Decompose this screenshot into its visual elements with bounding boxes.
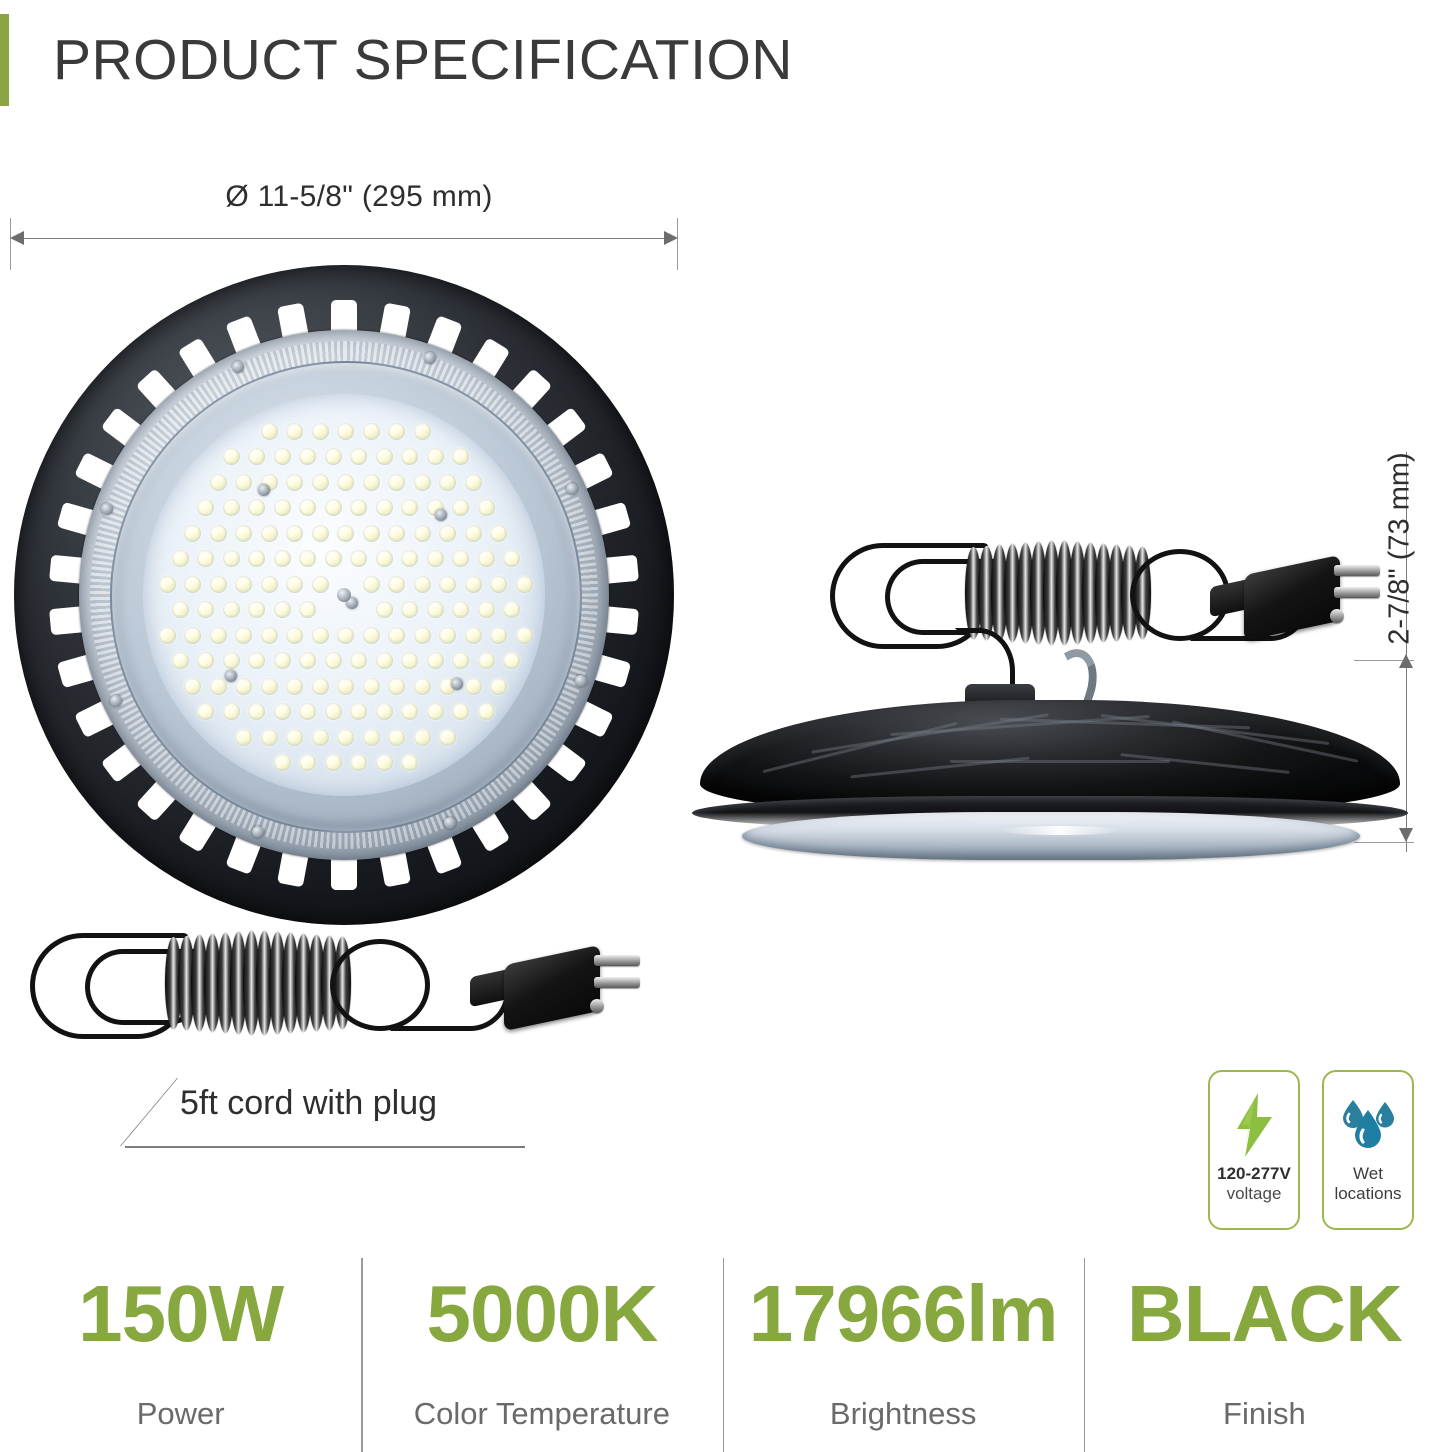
spec-label: Brightness [830,1396,976,1432]
led-chip [414,525,431,542]
spec-summary-row: 150WPower5000KColor Temperature17966lmBr… [0,1258,1445,1452]
led-chip [490,678,507,695]
led-chip [274,703,291,720]
led-chip [223,601,240,618]
led-chip [452,601,469,618]
led-chip [350,550,367,567]
led-chip [465,678,482,695]
led-chip [376,448,393,465]
led-chip [414,423,431,440]
led-chip [439,525,456,542]
led-chip [286,678,303,695]
led-chip [299,754,316,771]
led-chip [210,576,227,593]
led-chip [248,499,265,516]
led-chip [376,499,393,516]
spec-cell-brightness: 17966lmBrightness [723,1258,1084,1452]
spec-value: 5000K [427,1274,658,1354]
spec-value: BLACK [1127,1274,1402,1354]
led-chip [197,652,214,669]
led-chip [248,601,265,618]
led-chip [478,652,495,669]
led-chip [325,499,342,516]
led-chip [210,525,227,542]
center-screw-icon [337,588,351,602]
led-chip [465,576,482,593]
led-chip [388,678,405,695]
led-chip [248,652,265,669]
spec-cell-color-temperature: 5000KColor Temperature [361,1258,722,1452]
led-chip [337,474,354,491]
led-chip [414,474,431,491]
plug-prong [594,955,640,966]
led-chip [261,525,278,542]
led-chip [452,550,469,567]
diameter-dimension-label: Ø 11-5/8" (295 mm) [10,180,678,214]
lens-glint [1000,826,1120,835]
led-chip [325,652,342,669]
led-chip [427,652,444,669]
housing-fin [850,757,1029,779]
led-chip [172,652,189,669]
led-chip [261,627,278,644]
led-chip [235,729,252,746]
badge-voltage-value: 120-277V [1217,1164,1291,1184]
led-chip [235,474,252,491]
badge-wet-locations: Wet locations [1322,1070,1414,1230]
led-chip [286,627,303,644]
led-chip [197,703,214,720]
led-chip [414,576,431,593]
led-chip [414,678,431,695]
plug-prong [1330,609,1344,623]
product-side-view [700,700,1400,850]
led-chip [490,576,507,593]
led-chip [414,627,431,644]
led-chip [516,576,533,593]
spec-value: 17966lm [749,1274,1058,1354]
led-chip [325,448,342,465]
product-specification-page: PRODUCT SPECIFICATION Ø 11-5/8" (295 mm)… [0,0,1445,1452]
led-chip [286,423,303,440]
led-chip [248,550,265,567]
led-chip [299,652,316,669]
led-chip [465,627,482,644]
led-chip [465,525,482,542]
arrow-left-icon [10,231,24,245]
water-droplets-icon [1337,1086,1399,1164]
led-chip [210,627,227,644]
led-chip [210,678,227,695]
led-chip [388,729,405,746]
led-chip [184,678,201,695]
led-chip [286,525,303,542]
led-chip [159,627,176,644]
certification-badges: 120-277V voltage Wet locations [1208,1070,1414,1230]
led-chip [401,703,418,720]
led-chip [363,678,380,695]
led-chip [414,729,431,746]
led-chip [478,703,495,720]
led-chip [312,729,329,746]
led-chip [452,652,469,669]
led-chip [490,627,507,644]
led-chip [401,601,418,618]
led-chip [516,627,533,644]
led-chip [350,703,367,720]
housing-fin [1120,753,1289,774]
page-title: PRODUCT SPECIFICATION [53,32,793,89]
led-chip [363,576,380,593]
led-chip [388,576,405,593]
housing-fin [1172,720,1358,762]
led-chip [299,499,316,516]
panel-screw-icon [435,509,447,521]
plug-prong [590,999,604,1013]
spec-cell-power: 150WPower [0,1258,361,1452]
led-chip [503,601,520,618]
led-chip [490,525,507,542]
led-chip [261,729,278,746]
led-chip [172,601,189,618]
led-chip [363,627,380,644]
led-chip [401,499,418,516]
led-chip [376,754,393,771]
led-chip [274,754,291,771]
led-chip [223,550,240,567]
led-chip [465,474,482,491]
led-chip [325,703,342,720]
led-chip [439,729,456,746]
led-chip [401,448,418,465]
plug-prong [1334,565,1380,576]
led-chip [235,678,252,695]
led-chip [159,576,176,593]
led-chip [363,525,380,542]
led-chip [363,423,380,440]
callout-underline [125,1146,525,1148]
led-chip [197,601,214,618]
led-chip [337,525,354,542]
plug-prong [1334,587,1380,598]
led-chip [503,550,520,567]
led-chip [261,423,278,440]
led-chip [325,754,342,771]
led-chip [274,601,291,618]
led-chip [376,550,393,567]
led-chip [197,550,214,567]
spec-label: Color Temperature [414,1396,670,1432]
led-chip [312,627,329,644]
led-chip [312,525,329,542]
led-chip [274,499,291,516]
led-chip [363,729,380,746]
led-chip [223,703,240,720]
spec-label: Power [137,1396,225,1432]
ring-screw-icon [232,361,244,373]
led-chip [312,678,329,695]
led-chip [388,474,405,491]
led-chip [299,448,316,465]
led-chip [439,474,456,491]
led-chip [299,601,316,618]
spec-cell-finish: BLACKFinish [1084,1258,1445,1452]
led-chip [312,576,329,593]
led-chip [274,448,291,465]
arrow-right-icon [664,231,678,245]
cord-coil [965,541,1155,645]
ring-screw-icon [252,826,264,838]
led-chip [223,652,240,669]
side-view-power-cord [830,525,1390,675]
led-chip [299,550,316,567]
led-chip [197,499,214,516]
badge-wet-value: Wet [1353,1164,1383,1184]
diameter-dimension: Ø 11-5/8" (295 mm) [10,180,678,250]
lightning-bolt-icon [1231,1086,1277,1164]
badge-wet-label: locations [1334,1184,1401,1204]
led-chip [184,627,201,644]
led-chip [388,627,405,644]
led-chip [325,550,342,567]
led-chip [478,550,495,567]
spec-value: 150W [78,1274,283,1354]
led-chip [376,601,393,618]
led-chip [235,627,252,644]
led-chip [286,576,303,593]
led-chip [261,576,278,593]
callout-label: 5ft cord with plug [180,1084,437,1123]
led-chip [184,525,201,542]
led-chip [401,754,418,771]
led-chip [337,729,354,746]
front-view-power-cord [30,915,650,1085]
panel-screw-icon [258,484,270,496]
led-chip [401,652,418,669]
product-front-view [14,265,674,925]
ring-screw-icon [101,503,113,515]
led-chip [401,550,418,567]
led-chip [388,423,405,440]
led-chip [452,499,469,516]
led-chip [312,474,329,491]
cord-callout: 5ft cord with plug [120,1078,540,1158]
led-chip [427,601,444,618]
led-chip [312,423,329,440]
led-chip [235,525,252,542]
badge-voltage: 120-277V voltage [1208,1070,1300,1230]
lens-rim [742,812,1360,860]
led-chip [452,448,469,465]
led-chip [261,678,278,695]
led-chip [172,550,189,567]
plug-prong [594,977,640,988]
led-chip [363,474,380,491]
panel-screw-icon [451,678,463,690]
led-chip [478,499,495,516]
led-chip [452,703,469,720]
led-chip [478,601,495,618]
led-chip [350,754,367,771]
led-chip [376,652,393,669]
header-accent-bar [0,14,9,106]
led-chip [184,576,201,593]
diameter-dimension-line [10,228,678,250]
cord-coil [165,931,355,1035]
led-chip [439,576,456,593]
led-chip [337,423,354,440]
led-chip [503,652,520,669]
led-chip [210,474,227,491]
led-chip [337,627,354,644]
led-chip [248,703,265,720]
panel-screw-icon [225,670,237,682]
led-chip [439,627,456,644]
led-chip [299,703,316,720]
arrow-down-icon [1399,828,1413,842]
led-chip [274,652,291,669]
led-chip [427,703,444,720]
led-chip [337,678,354,695]
led-chip [350,448,367,465]
ring-screw-icon [110,695,122,707]
led-chip [223,499,240,516]
dimension-bar [20,238,668,239]
led-chip [388,525,405,542]
spec-label: Finish [1223,1396,1306,1432]
led-chip [427,550,444,567]
page-header: PRODUCT SPECIFICATION [0,14,793,106]
led-chip [286,729,303,746]
led-chip [286,474,303,491]
led-chip [274,550,291,567]
led-chip [376,703,393,720]
led-chip [235,576,252,593]
led-chip [248,448,265,465]
plug-body [504,945,600,1031]
led-chip [350,499,367,516]
led-chip [350,652,367,669]
led-chip [223,448,240,465]
plug-body [1244,555,1340,641]
led-chip [427,448,444,465]
badge-voltage-label: voltage [1227,1184,1282,1204]
